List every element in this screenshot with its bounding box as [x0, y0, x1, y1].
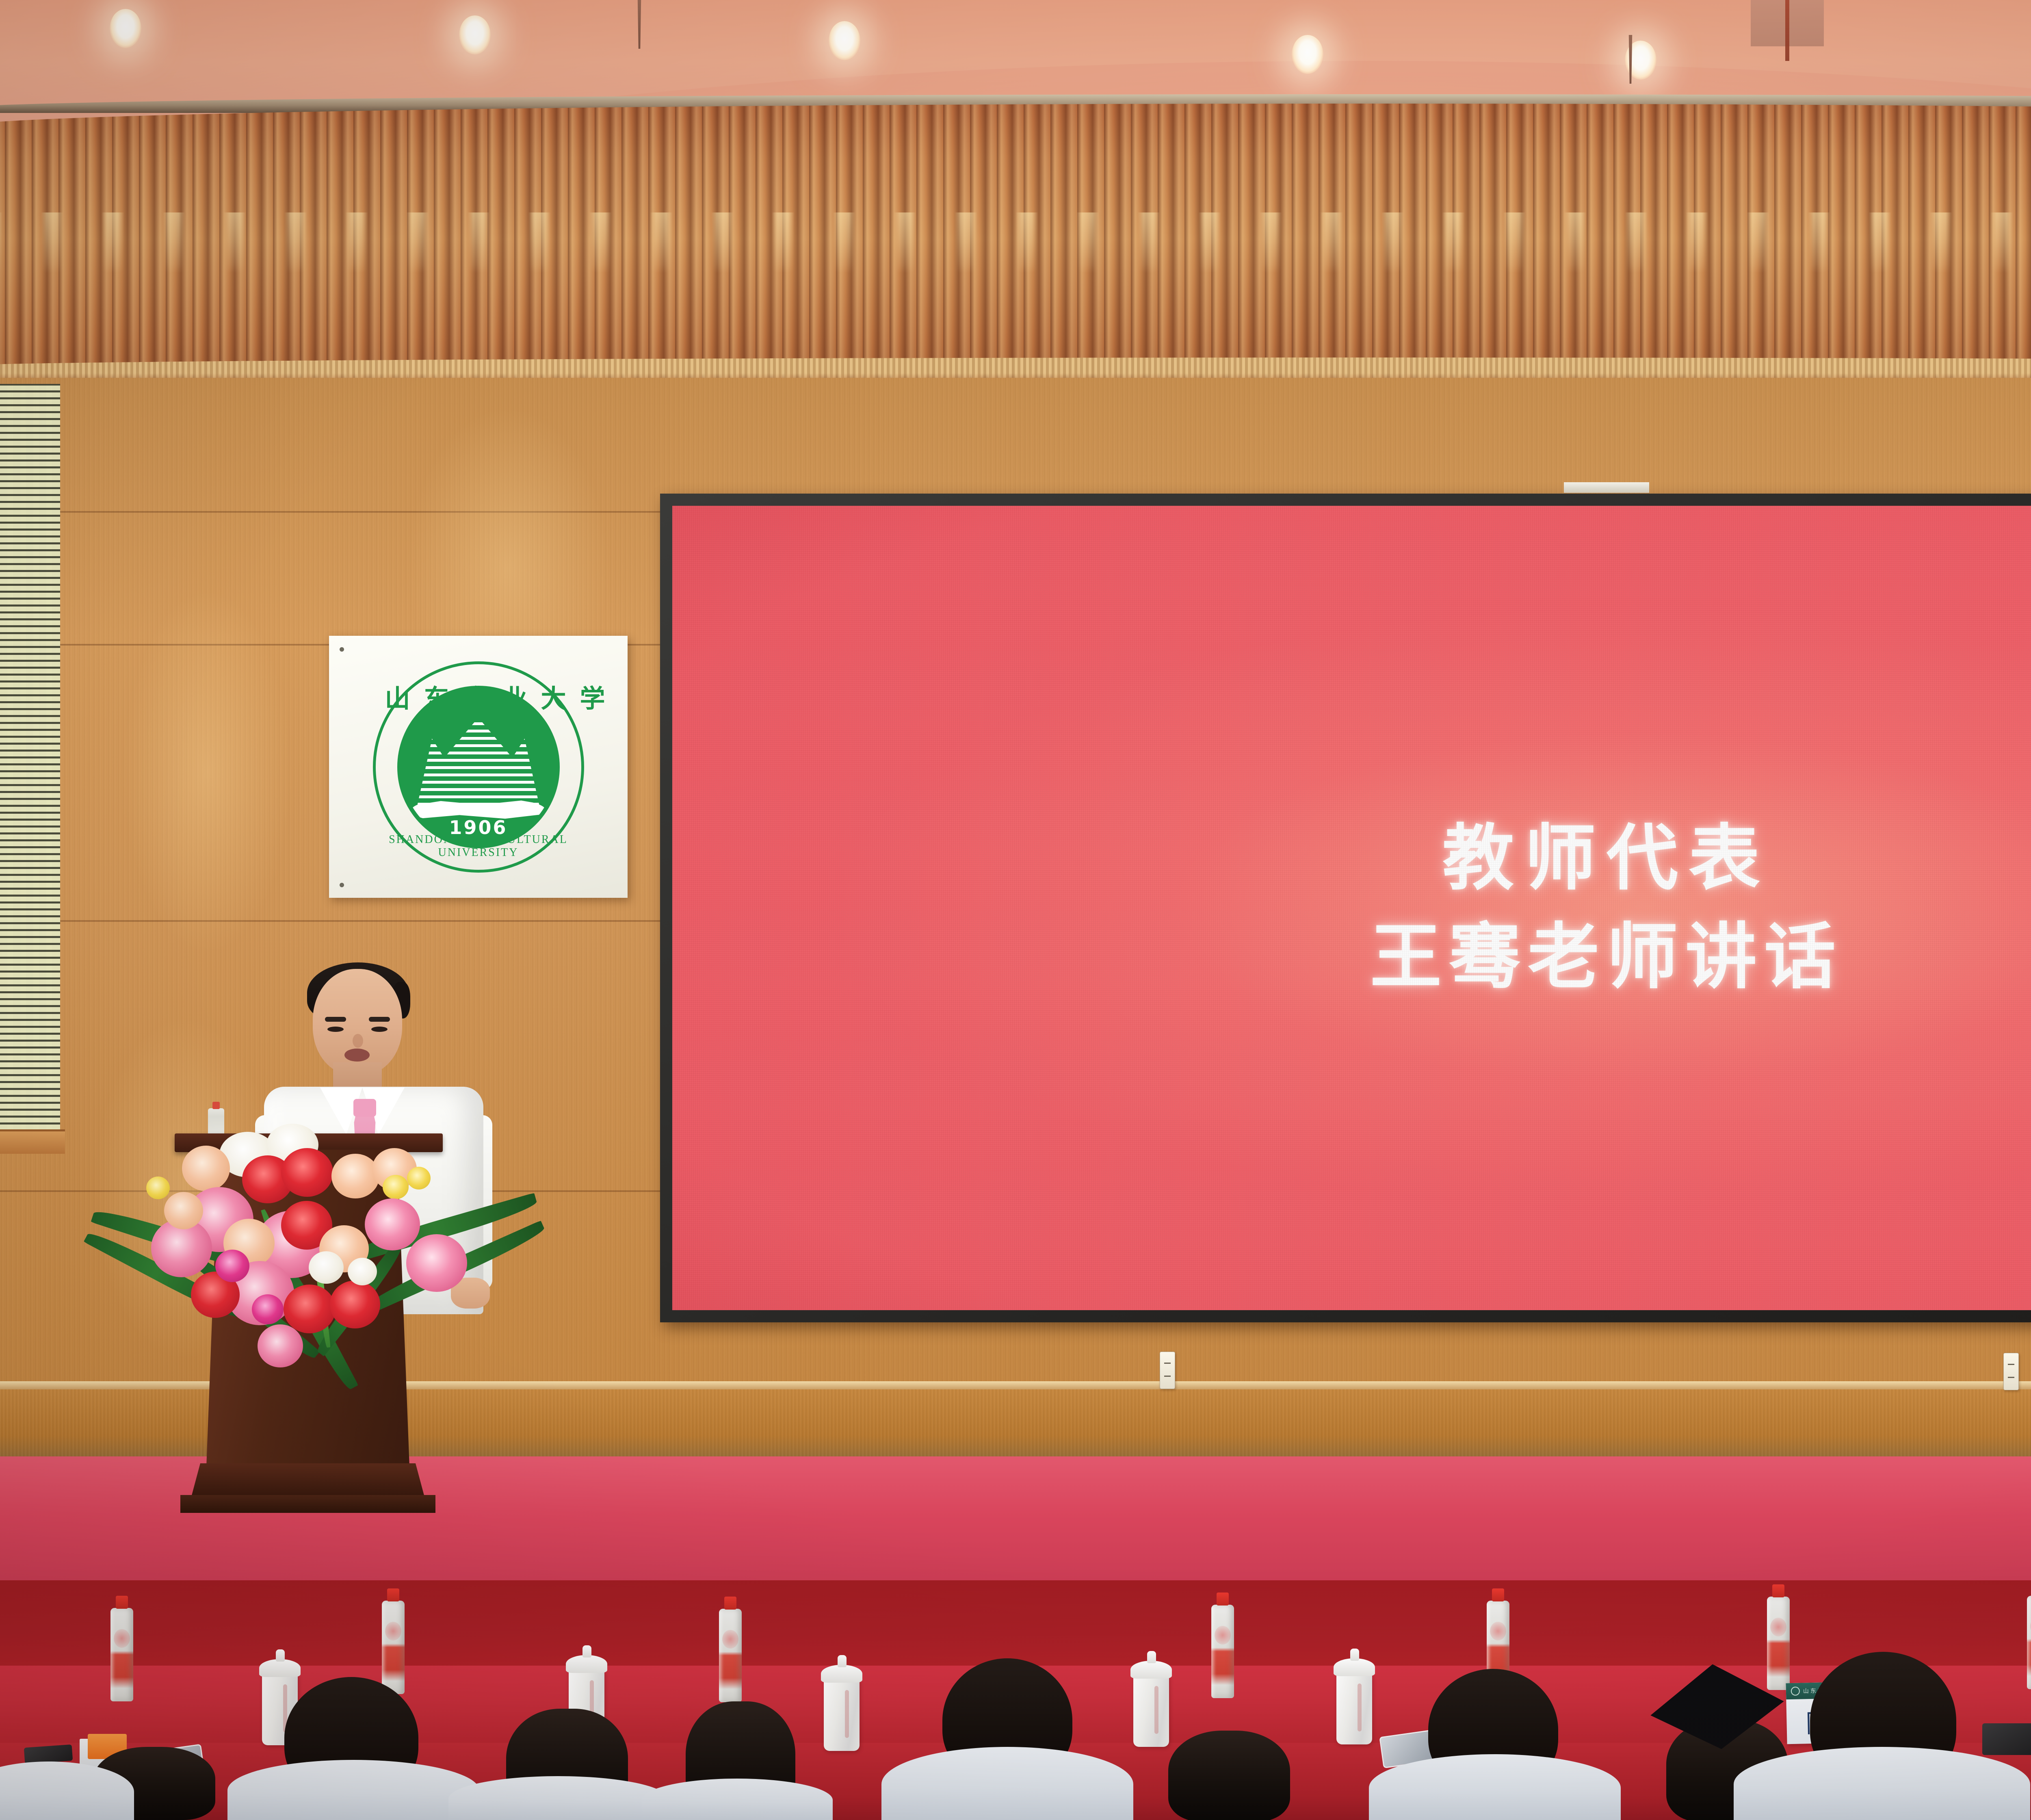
speaker-eye-left [327, 1027, 344, 1032]
acoustic-panel-base [0, 1129, 65, 1154]
water-bottle-6[interactable] [1767, 1597, 1790, 1690]
flower-arrangement [122, 1097, 512, 1373]
logo-inner-emblem: 1906 [397, 686, 560, 848]
water-bottle-4[interactable] [1211, 1605, 1234, 1698]
nameplate-logo-icon-1 [1791, 1687, 1800, 1696]
tea-cup-3[interactable] [824, 1679, 860, 1751]
flower-red-2 [281, 1148, 333, 1197]
led-screen[interactable]: 教师代表 王骞老师讲话 [672, 506, 2031, 1310]
flower-magenta-1 [215, 1250, 249, 1282]
wood-grain-1 [122, 589, 292, 955]
flower-red-6 [330, 1280, 380, 1328]
university-plaque: 山东农业大学 1906 SHANDONG AGRICULTURAL UNIVER… [329, 636, 628, 898]
plaque-pin-tl [340, 647, 344, 652]
speaker-mouth [344, 1049, 370, 1062]
flower-gerbera-5 [406, 1234, 467, 1292]
flower-magenta-2 [252, 1294, 284, 1324]
flower-rose-2 [331, 1154, 379, 1198]
flower-gerbera-4 [365, 1198, 420, 1250]
podium-base [191, 1463, 425, 1498]
speaker-brow-right [369, 1017, 390, 1022]
logo-name-en: SHANDONG AGRICULTURAL UNIVERSITY [373, 833, 584, 859]
university-logo-icon: 山东农业大学 1906 SHANDONG AGRICULTURAL UNIVER… [373, 661, 584, 873]
audience-shoulder-7 [1369, 1754, 1621, 1820]
downlight-3 [829, 21, 860, 60]
led-text-line1: 教师代表 [672, 809, 2031, 908]
flower-yellow-3 [146, 1176, 170, 1199]
tea-cup-5[interactable] [1336, 1672, 1372, 1744]
water-bottle-7[interactable] [2027, 1596, 2031, 1689]
led-screen-text: 教师代表 王骞老师讲话 [672, 809, 2031, 1007]
remote-control[interactable] [24, 1744, 73, 1764]
flower-red-5 [284, 1285, 336, 1333]
water-bottle-2[interactable] [382, 1601, 405, 1694]
downlight-4 [1292, 35, 1323, 74]
podium-plinth [180, 1495, 435, 1513]
downlight-1 [110, 9, 141, 48]
screen-mount-bracket [1564, 482, 1649, 493]
audience-shoulder-4 [642, 1779, 833, 1820]
speaker-eye-right [371, 1027, 388, 1032]
audience-shoulder-3 [448, 1776, 668, 1820]
power-socket-right[interactable] [2003, 1353, 2019, 1390]
audience-hair-6 [1168, 1731, 1290, 1820]
led-screen-frame: 教师代表 王骞老师讲话 [660, 494, 2031, 1322]
water-bottle-3[interactable] [719, 1609, 742, 1702]
speaker-brow-left [325, 1017, 346, 1022]
audience-shoulder-9 [1734, 1747, 2030, 1820]
curtain-valance [0, 104, 2031, 396]
audience-shoulder-5 [881, 1747, 1133, 1820]
plaque-pin-bl [340, 883, 344, 887]
flower-yellow-1 [383, 1175, 409, 1199]
downlight-2 [459, 15, 491, 54]
flower-rose-6 [164, 1192, 203, 1229]
led-text-line2: 王骞老师讲话 [672, 908, 2031, 1007]
power-socket-left[interactable] [1160, 1352, 1175, 1389]
flower-rose-1 [182, 1146, 230, 1191]
water-bottle-1[interactable] [110, 1608, 133, 1701]
acoustic-panel [0, 384, 60, 1131]
flower-gerbera-7 [258, 1324, 303, 1367]
speaker-nose [353, 1034, 363, 1048]
flower-white-4 [348, 1258, 377, 1285]
auditorium-scene: 山东农业大学 1906 SHANDONG AGRICULTURAL UNIVER… [0, 0, 2031, 1820]
ceiling-cable [1785, 0, 1789, 61]
logo-mountain-icon [418, 718, 539, 805]
audience-shoulder-2 [227, 1760, 479, 1820]
flower-yellow-2 [407, 1167, 431, 1189]
camera-object[interactable] [1982, 1723, 2031, 1755]
flower-white-3 [309, 1251, 344, 1284]
tea-cup-4[interactable] [1133, 1675, 1169, 1747]
